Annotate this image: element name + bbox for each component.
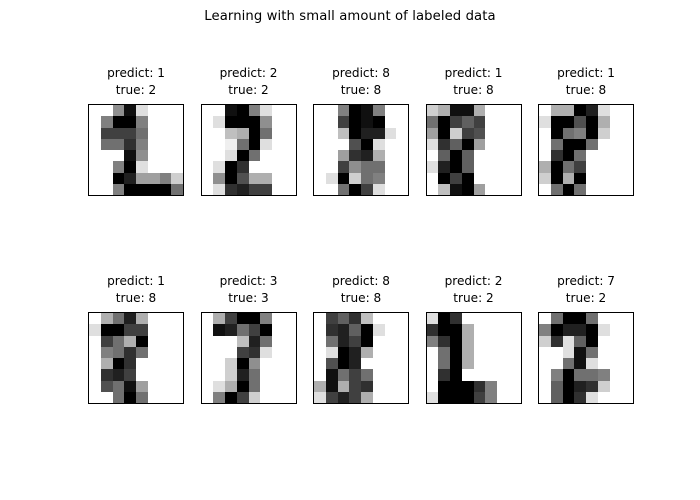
pixel <box>621 381 633 392</box>
pixel <box>225 369 237 380</box>
pixel <box>539 336 551 347</box>
pixel <box>621 128 633 139</box>
pixel <box>101 116 113 127</box>
pixel <box>485 347 497 358</box>
pixel <box>497 161 509 172</box>
digit-image <box>313 104 409 196</box>
pixel <box>610 336 622 347</box>
pixel <box>509 347 521 358</box>
pixel <box>474 392 486 403</box>
pixel <box>136 173 148 184</box>
true-label: true: 8 <box>453 83 493 97</box>
pixel <box>361 173 373 184</box>
pixel <box>272 392 284 403</box>
pixel <box>450 313 462 324</box>
pixel <box>326 161 338 172</box>
pixel <box>171 313 183 324</box>
pixel <box>349 173 361 184</box>
pixel <box>598 358 610 369</box>
pixel <box>509 139 521 150</box>
pixel <box>586 369 598 380</box>
pixel <box>124 150 136 161</box>
pixel <box>136 358 148 369</box>
pixel <box>202 313 214 324</box>
pixel <box>485 173 497 184</box>
pixel <box>160 358 172 369</box>
pixel <box>202 336 214 347</box>
pixel <box>598 139 610 150</box>
pixel <box>213 324 225 335</box>
pixel <box>338 313 350 324</box>
pixel <box>450 184 462 195</box>
pixel <box>89 347 101 358</box>
pixel <box>373 105 385 116</box>
pixel <box>427 324 439 335</box>
pixel <box>396 336 408 347</box>
pixel <box>160 139 172 150</box>
pixel <box>237 392 249 403</box>
pixel-grid <box>314 105 408 195</box>
pixel <box>474 369 486 380</box>
pixel <box>237 128 249 139</box>
pixel <box>361 392 373 403</box>
pixel-grid <box>427 313 521 403</box>
pixel <box>260 313 272 324</box>
pixel <box>509 324 521 335</box>
pixel <box>563 336 575 347</box>
pixel <box>89 381 101 392</box>
pixel <box>373 392 385 403</box>
pixel <box>610 105 622 116</box>
pixel <box>171 116 183 127</box>
pixel <box>89 336 101 347</box>
pixel <box>225 336 237 347</box>
pixel <box>249 392 261 403</box>
pixel <box>373 347 385 358</box>
digit-panel: predict: 2true: 2 <box>201 104 297 196</box>
pixel <box>509 184 521 195</box>
pixel <box>361 161 373 172</box>
pixel <box>598 381 610 392</box>
pixel <box>284 392 296 403</box>
pixel <box>349 358 361 369</box>
pixel <box>574 105 586 116</box>
pixel <box>272 161 284 172</box>
pixel <box>551 116 563 127</box>
pixel <box>563 369 575 380</box>
pixel <box>338 139 350 150</box>
pixel <box>598 173 610 184</box>
pixel <box>284 313 296 324</box>
pixel <box>598 161 610 172</box>
pixel <box>349 116 361 127</box>
pixel <box>213 369 225 380</box>
pixel-grid <box>89 313 183 403</box>
pixel <box>136 369 148 380</box>
pixel <box>563 128 575 139</box>
pixel <box>326 358 338 369</box>
pixel <box>450 161 462 172</box>
pixel <box>272 139 284 150</box>
pixel <box>260 105 272 116</box>
pixel <box>272 381 284 392</box>
pixel <box>396 150 408 161</box>
pixel <box>427 347 439 358</box>
pixel <box>148 173 160 184</box>
pixel <box>563 184 575 195</box>
pixel <box>361 139 373 150</box>
pixel <box>213 128 225 139</box>
pixel <box>563 392 575 403</box>
pixel <box>249 347 261 358</box>
pixel <box>509 128 521 139</box>
digit-panel: predict: 8true: 8 <box>313 312 409 404</box>
pixel <box>213 347 225 358</box>
pixel <box>89 313 101 324</box>
pixel <box>213 184 225 195</box>
pixel <box>338 173 350 184</box>
pixel <box>314 347 326 358</box>
pixel <box>314 336 326 347</box>
pixel <box>396 313 408 324</box>
pixel <box>260 347 272 358</box>
pixel <box>450 336 462 347</box>
pixel <box>171 369 183 380</box>
pixel <box>396 139 408 150</box>
pixel <box>113 313 125 324</box>
predict-label: predict: 1 <box>107 274 165 288</box>
pixel <box>563 358 575 369</box>
pixel <box>349 347 361 358</box>
pixel <box>225 324 237 335</box>
pixel <box>202 139 214 150</box>
pixel <box>225 150 237 161</box>
pixel <box>225 381 237 392</box>
pixel <box>474 313 486 324</box>
pixel-grid <box>427 105 521 195</box>
pixel <box>202 184 214 195</box>
pixel <box>385 116 397 127</box>
pixel <box>284 128 296 139</box>
pixel <box>148 313 160 324</box>
pixel <box>314 392 326 403</box>
pixel <box>326 324 338 335</box>
pixel <box>539 392 551 403</box>
pixel <box>124 128 136 139</box>
pixel <box>497 128 509 139</box>
pixel <box>462 324 474 335</box>
pixel <box>551 173 563 184</box>
pixel <box>89 150 101 161</box>
pixel <box>474 336 486 347</box>
pixel <box>462 184 474 195</box>
pixel <box>160 381 172 392</box>
pixel <box>237 184 249 195</box>
pixel <box>586 139 598 150</box>
pixel <box>361 347 373 358</box>
pixel <box>574 369 586 380</box>
predict-label: predict: 8 <box>332 274 390 288</box>
pixel <box>260 358 272 369</box>
pixel <box>124 358 136 369</box>
pixel <box>101 347 113 358</box>
digit-image <box>426 104 522 196</box>
true-label: true: 8 <box>341 291 381 305</box>
pixel <box>284 336 296 347</box>
pixel <box>160 324 172 335</box>
pixel <box>462 347 474 358</box>
pixel <box>272 347 284 358</box>
pixel <box>249 105 261 116</box>
true-label: true: 3 <box>228 291 268 305</box>
pixel <box>326 139 338 150</box>
pixel <box>427 313 439 324</box>
pixel <box>551 105 563 116</box>
pixel <box>509 105 521 116</box>
pixel <box>272 369 284 380</box>
pixel <box>462 369 474 380</box>
pixel <box>349 184 361 195</box>
pixel <box>113 150 125 161</box>
pixel <box>385 324 397 335</box>
pixel <box>438 128 450 139</box>
pixel <box>474 105 486 116</box>
pixel-grid <box>314 313 408 403</box>
digit-image <box>88 312 184 404</box>
pixel <box>171 184 183 195</box>
pixel <box>621 358 633 369</box>
pixel <box>563 139 575 150</box>
pixel <box>124 116 136 127</box>
pixel <box>610 184 622 195</box>
pixel <box>373 381 385 392</box>
pixel <box>349 324 361 335</box>
pixel <box>563 324 575 335</box>
pixel <box>438 347 450 358</box>
pixel <box>574 161 586 172</box>
pixel <box>89 369 101 380</box>
pixel <box>284 150 296 161</box>
pixel <box>213 161 225 172</box>
pixel <box>213 358 225 369</box>
true-label: true: 2 <box>228 83 268 97</box>
pixel <box>113 161 125 172</box>
pixel <box>272 358 284 369</box>
pixel <box>497 392 509 403</box>
pixel <box>326 369 338 380</box>
figure-canvas: Learning with small amount of labeled da… <box>0 0 700 500</box>
pixel <box>272 184 284 195</box>
pixel <box>396 184 408 195</box>
pixel <box>509 116 521 127</box>
pixel <box>485 369 497 380</box>
pixel <box>462 173 474 184</box>
pixel <box>385 105 397 116</box>
pixel <box>338 381 350 392</box>
pixel <box>260 336 272 347</box>
pixel <box>396 173 408 184</box>
pixel <box>249 139 261 150</box>
pixel <box>124 347 136 358</box>
pixel <box>124 139 136 150</box>
pixel <box>171 336 183 347</box>
pixel <box>148 336 160 347</box>
panel-label: predict: 7true: 2 <box>516 273 656 306</box>
pixel <box>314 173 326 184</box>
pixel <box>160 173 172 184</box>
pixel <box>272 105 284 116</box>
pixel <box>450 392 462 403</box>
pixel <box>373 150 385 161</box>
pixel <box>349 139 361 150</box>
pixel <box>610 347 622 358</box>
pixel <box>202 358 214 369</box>
pixel <box>213 313 225 324</box>
pixel <box>509 381 521 392</box>
predict-label: predict: 1 <box>107 66 165 80</box>
pixel <box>438 161 450 172</box>
pixel <box>361 313 373 324</box>
pixel <box>563 150 575 161</box>
pixel <box>574 336 586 347</box>
pixel <box>314 116 326 127</box>
pixel <box>385 173 397 184</box>
pixel <box>326 116 338 127</box>
pixel <box>148 150 160 161</box>
pixel <box>202 173 214 184</box>
pixel <box>284 381 296 392</box>
pixel <box>101 105 113 116</box>
pixel <box>427 105 439 116</box>
pixel <box>272 313 284 324</box>
pixel <box>497 173 509 184</box>
pixel <box>272 150 284 161</box>
pixel <box>284 369 296 380</box>
pixel <box>338 184 350 195</box>
pixel <box>586 347 598 358</box>
pixel <box>586 184 598 195</box>
pixel <box>101 173 113 184</box>
pixel <box>551 358 563 369</box>
digit-panel: predict: 1true: 8 <box>426 104 522 196</box>
true-label: true: 2 <box>453 291 493 305</box>
pixel <box>485 105 497 116</box>
pixel <box>338 128 350 139</box>
pixel <box>438 173 450 184</box>
predict-label: predict: 2 <box>445 274 503 288</box>
pixel <box>338 116 350 127</box>
pixel <box>509 369 521 380</box>
pixel <box>272 173 284 184</box>
pixel <box>101 150 113 161</box>
pixel <box>249 381 261 392</box>
pixel <box>260 150 272 161</box>
pixel <box>361 324 373 335</box>
pixel <box>450 139 462 150</box>
pixel <box>314 139 326 150</box>
pixel <box>171 392 183 403</box>
pixel <box>610 150 622 161</box>
pixel <box>349 336 361 347</box>
pixel <box>171 347 183 358</box>
pixel <box>160 347 172 358</box>
pixel <box>124 336 136 347</box>
pixel <box>539 139 551 150</box>
pixel <box>385 336 397 347</box>
pixel <box>509 336 521 347</box>
pixel <box>101 358 113 369</box>
pixel <box>621 392 633 403</box>
pixel <box>260 184 272 195</box>
pixel <box>427 128 439 139</box>
pixel <box>586 358 598 369</box>
pixel <box>136 150 148 161</box>
pixel <box>202 161 214 172</box>
pixel <box>338 336 350 347</box>
pixel <box>249 358 261 369</box>
pixel <box>385 184 397 195</box>
pixel <box>160 161 172 172</box>
pixel <box>474 139 486 150</box>
pixel <box>539 150 551 161</box>
digit-image <box>538 104 634 196</box>
pixel <box>361 105 373 116</box>
pixel <box>427 173 439 184</box>
pixel <box>474 173 486 184</box>
pixel <box>586 336 598 347</box>
pixel <box>272 128 284 139</box>
pixel <box>249 324 261 335</box>
pixel <box>621 116 633 127</box>
pixel <box>349 161 361 172</box>
pixel <box>136 347 148 358</box>
pixel <box>225 173 237 184</box>
pixel <box>438 116 450 127</box>
pixel <box>148 105 160 116</box>
pixel <box>284 139 296 150</box>
pixel <box>450 116 462 127</box>
pixel <box>101 139 113 150</box>
pixel <box>225 184 237 195</box>
predict-label: predict: 1 <box>557 66 615 80</box>
pixel <box>539 347 551 358</box>
pixel <box>160 128 172 139</box>
pixel <box>539 184 551 195</box>
pixel <box>160 392 172 403</box>
pixel <box>113 381 125 392</box>
pixel <box>89 139 101 150</box>
pixel <box>113 347 125 358</box>
pixel <box>539 369 551 380</box>
pixel <box>225 313 237 324</box>
pixel <box>509 161 521 172</box>
pixel <box>361 381 373 392</box>
pixel <box>225 128 237 139</box>
pixel <box>113 392 125 403</box>
pixel <box>551 150 563 161</box>
pixel <box>136 392 148 403</box>
pixel <box>101 369 113 380</box>
pixel <box>260 392 272 403</box>
pixel <box>462 392 474 403</box>
pixel <box>598 392 610 403</box>
pixel <box>586 381 598 392</box>
pixel <box>237 358 249 369</box>
pixel <box>385 347 397 358</box>
pixel <box>314 128 326 139</box>
pixel <box>202 381 214 392</box>
true-label: true: 8 <box>116 291 156 305</box>
